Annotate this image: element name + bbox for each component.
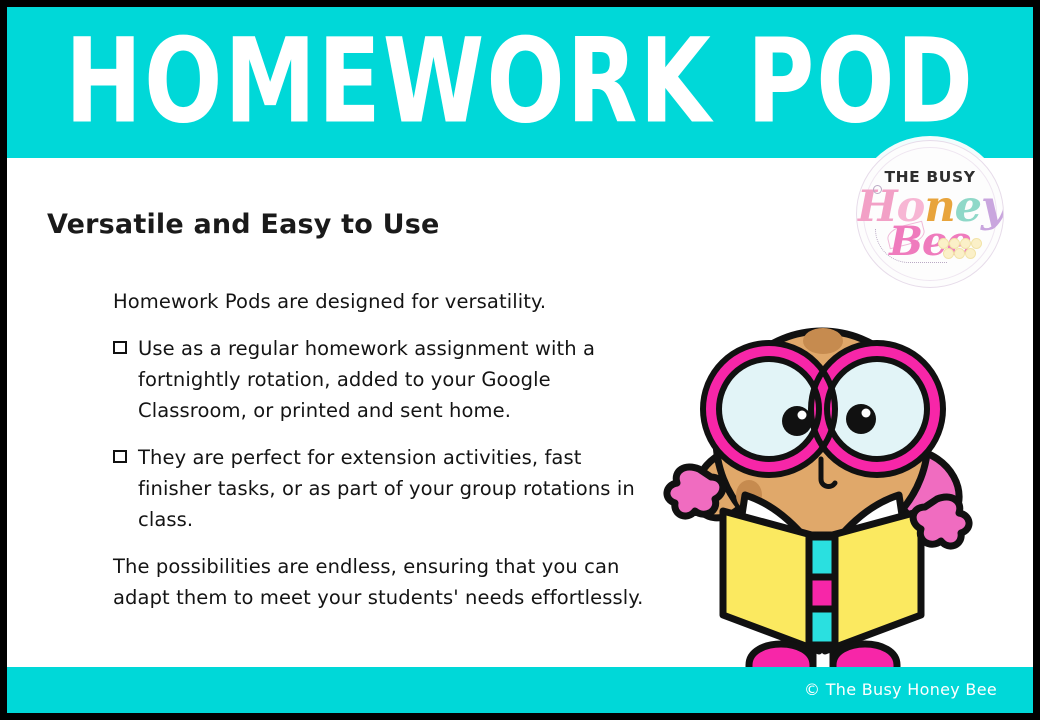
list-item: They are perfect for extension activitie…	[113, 442, 653, 535]
footer-bar: © The Busy Honey Bee	[7, 667, 1033, 713]
checkbox-icon	[113, 450, 127, 463]
copyright-credit: © The Busy Honey Bee	[804, 680, 997, 699]
closing-paragraph: The possibilities are endless, ensuring …	[113, 551, 653, 613]
list-item: Use as a regular homework assignment wit…	[113, 333, 653, 426]
intro-paragraph: Homework Pods are designed for versatili…	[113, 286, 653, 317]
slide-canvas: HOMEWORK POD Versatile and Easy to Use H…	[7, 7, 1033, 713]
section-heading: Versatile and Easy to Use	[47, 209, 440, 240]
bee-character-reading-book-illustration	[637, 299, 1007, 669]
title-banner: HOMEWORK POD	[7, 7, 1033, 158]
swirl-dot-icon	[873, 185, 882, 194]
brand-logo: THE BUSY Honey Bee	[856, 140, 1004, 288]
body-copy: Homework Pods are designed for versatili…	[113, 286, 653, 613]
honeycomb-icon	[938, 238, 982, 264]
list-item-label: They are perfect for extension activitie…	[138, 442, 653, 535]
checkbox-icon	[113, 341, 127, 354]
list-item-label: Use as a regular homework assignment wit…	[138, 333, 653, 426]
page-title: HOMEWORK POD	[12, 23, 1028, 140]
